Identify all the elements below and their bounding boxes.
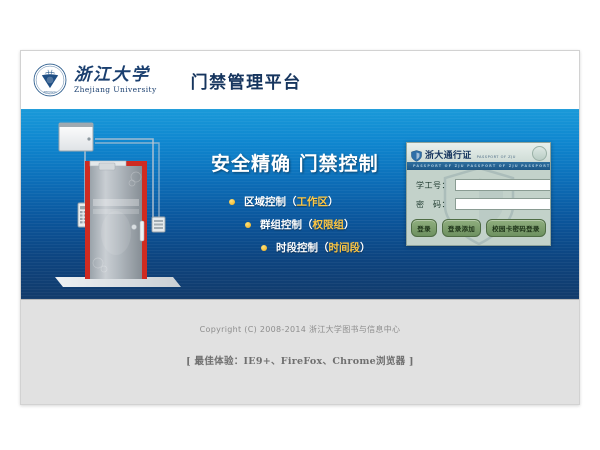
slogan-headline: 安全精确 门禁控制: [211, 149, 426, 176]
campus-card-login-button[interactable]: 校园卡密码登录: [486, 219, 546, 237]
feature-suffix: ）: [328, 194, 339, 209]
university-name-en: Zhejiang University: [74, 86, 157, 94]
login-panel: 浙大通行证 PASSPORT OF ZJU PASSPORT OF ZJU PA…: [406, 142, 551, 246]
login-strip-text: PASSPORT OF ZJU PASSPORT OF ZJU PASSPORT…: [407, 164, 550, 168]
university-name: 浙江大学 Zhejiang University: [74, 67, 157, 94]
zhejiang-university-seal-icon: ZHEJIANG: [33, 63, 67, 97]
userid-label: 学工号：: [414, 180, 450, 191]
login-panel-header: 浙大通行证 PASSPORT OF ZJU: [407, 143, 550, 162]
site-header: ZHEJIANG 浙江大学 Zhejiang University 门禁管理平台: [21, 51, 579, 109]
browser-compatibility-note: [ 最佳体验：IE9+、FireFox、Chrome浏览器 ]: [186, 353, 414, 367]
feature-highlight: 时间段: [329, 240, 361, 255]
site-footer: Copyright (C) 2008-2014 浙江大学图书与信息中心 [ 最佳…: [21, 299, 579, 405]
page-title: 门禁管理平台: [191, 68, 302, 93]
login-panel-title-en: PASSPORT OF ZJU: [477, 155, 516, 159]
userid-input[interactable]: [455, 179, 551, 191]
feature-item-time: 时段控制（时间段）: [211, 240, 426, 255]
feature-suffix: ）: [360, 240, 371, 255]
feature-highlight: 工作区: [297, 194, 329, 209]
feature-suffix: ）: [344, 217, 355, 232]
password-input[interactable]: [455, 198, 551, 210]
password-label: 密 码：: [414, 199, 450, 210]
form-row-userid: 学工号：: [414, 179, 543, 191]
form-row-password: 密 码：: [414, 198, 543, 210]
shield-badge-icon: [532, 146, 547, 161]
access-control-door-illustration: [41, 117, 191, 297]
login-button-row: 登录 登录添加 校园卡密码登录: [414, 219, 543, 237]
feature-highlight: 权限组: [313, 217, 345, 232]
bullet-dot-icon: [229, 199, 235, 205]
university-logo[interactable]: ZHEJIANG 浙江大学 Zhejiang University: [33, 63, 157, 97]
login-button[interactable]: 登录: [411, 219, 437, 237]
feature-list: 区域控制（工作区） 群组控制（权限组） 时段控制（时间段）: [211, 194, 426, 255]
bullet-dot-icon: [245, 222, 251, 228]
login-panel-title-block: 浙大通行证 PASSPORT OF ZJU: [425, 145, 516, 161]
login-add-button[interactable]: 登录添加: [442, 219, 481, 237]
slogan-block: 安全精确 门禁控制 区域控制（工作区） 群组控制（权限组） 时段控制（时间段）: [211, 149, 426, 271]
page-card: ZHEJIANG 浙江大学 Zhejiang University 门禁管理平台: [20, 50, 580, 405]
feature-text: 群组控制（: [260, 217, 313, 232]
bullet-dot-icon: [261, 245, 267, 251]
feature-text: 时段控制（: [276, 240, 329, 255]
hero-banner: 安全精确 门禁控制 区域控制（工作区） 群组控制（权限组） 时段控制（时间段）: [21, 109, 579, 299]
svg-text:ZHEJIANG: ZHEJIANG: [43, 91, 56, 94]
login-form: 学工号： 密 码： 登录 登录添加 校园卡密码登录: [407, 170, 550, 245]
feature-text: 区域控制（: [244, 194, 297, 209]
login-panel-title-cn: 浙大通行证: [425, 151, 472, 161]
feature-item-group: 群组控制（权限组）: [211, 217, 426, 232]
copyright-text: Copyright (C) 2008-2014 浙江大学图书与信息中心: [200, 324, 401, 335]
feature-item-area: 区域控制（工作区）: [211, 194, 426, 209]
university-name-cn: 浙江大学: [74, 67, 157, 84]
login-panel-strip: PASSPORT OF ZJU PASSPORT OF ZJU PASSPORT…: [407, 162, 550, 170]
shield-icon: [411, 147, 422, 159]
